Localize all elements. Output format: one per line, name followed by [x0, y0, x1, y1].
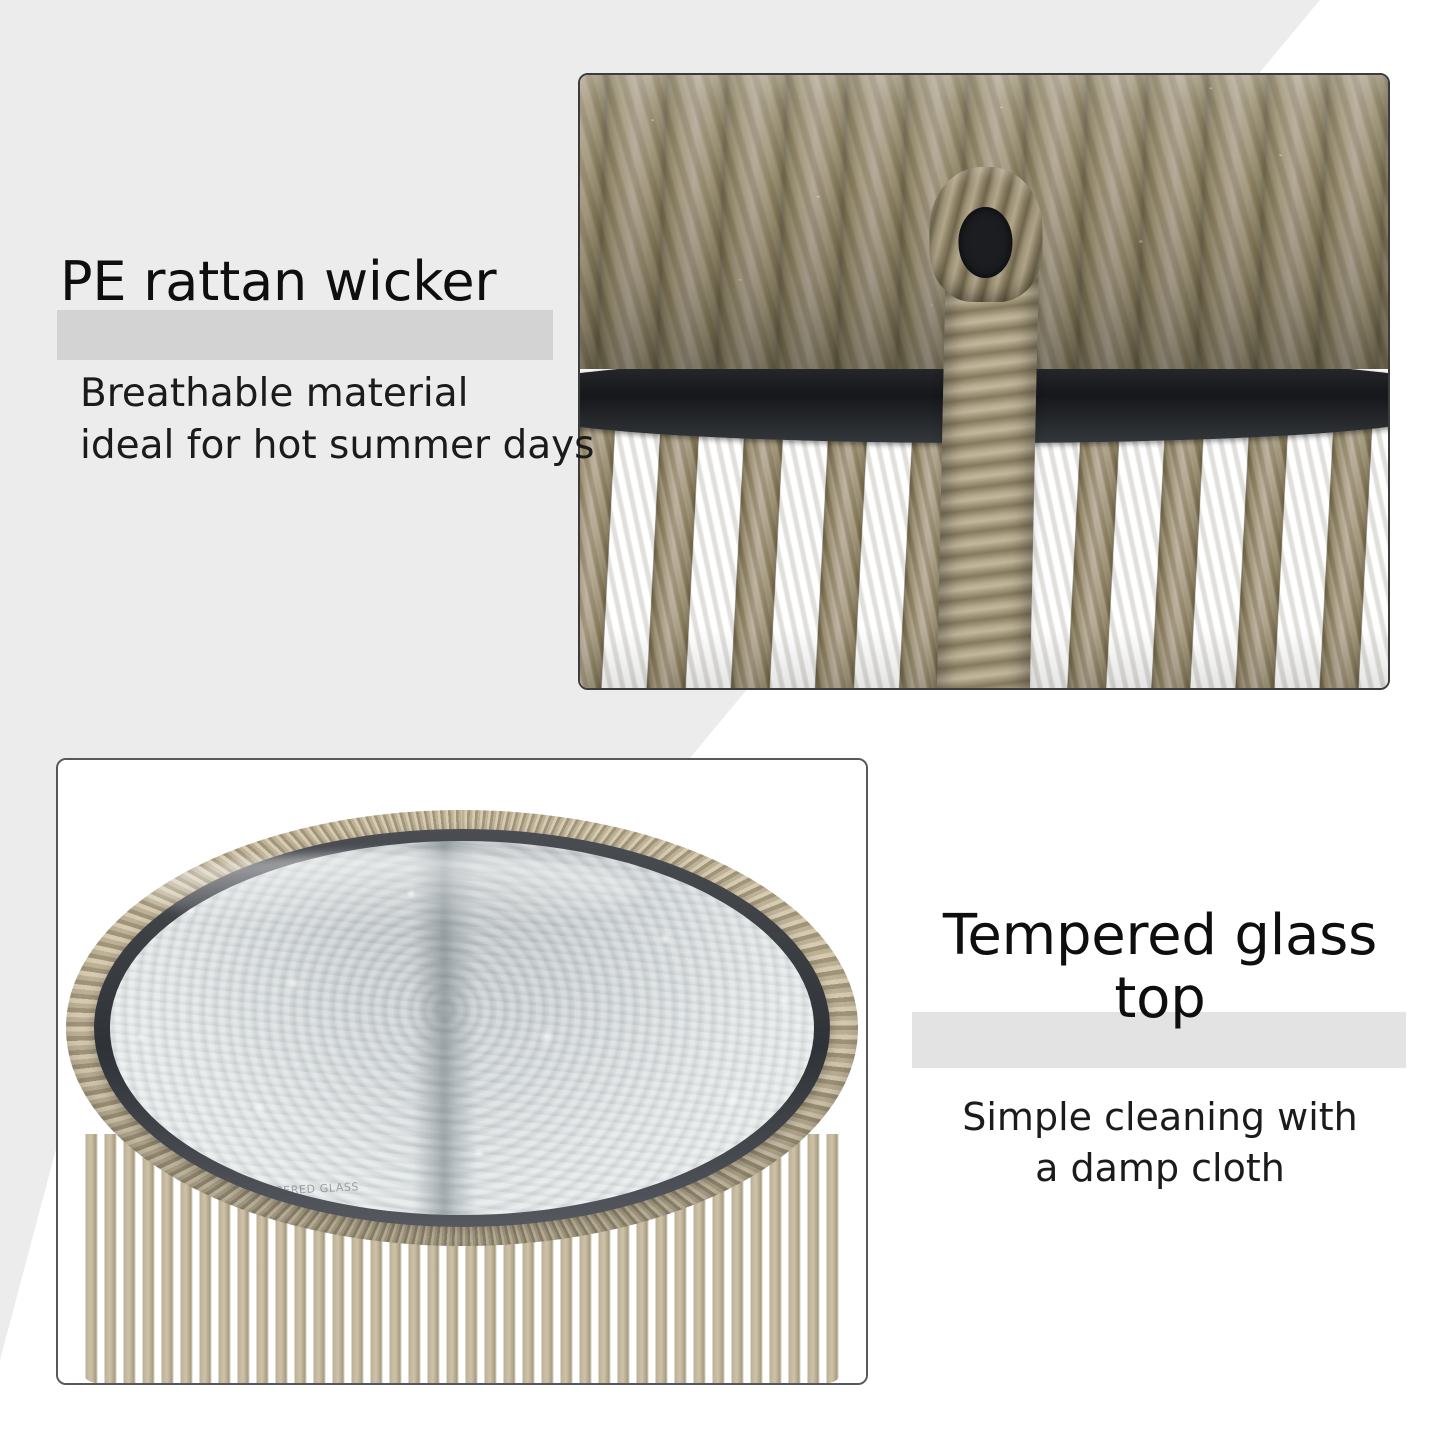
feature-subtext-glass-line-1: Simple cleaning with	[890, 1092, 1430, 1142]
glass-gloss-highlight	[139, 853, 640, 928]
rattan-wicker-photo	[578, 73, 1390, 690]
glass-photo-canvas: TEMPERED GLASS	[58, 760, 866, 1383]
feature-headline-glass-line-1: Tempered glass	[890, 905, 1430, 968]
feature-subtext-rattan: Breathable material ideal for hot summer…	[30, 368, 582, 471]
rattan-knot	[929, 167, 1042, 302]
feature-block-glass: Tempered glass top Simple cleaning with …	[890, 905, 1430, 1193]
feature-subtext-rattan-line-1: Breathable material	[80, 368, 582, 419]
rattan-photo-canvas	[580, 75, 1388, 688]
feature-headline-glass: Tempered glass top	[890, 905, 1430, 1030]
tempered-glass-etching: TEMPERED GLASS	[250, 1180, 359, 1199]
feature-subtext-glass-line-2: a damp cloth	[890, 1143, 1430, 1193]
feature-block-rattan: PE rattan wicker Breathable material ide…	[30, 252, 582, 471]
feature-subtext-rattan-line-2: ideal for hot summer days	[80, 420, 582, 471]
feature-headline-rattan: PE rattan wicker	[30, 252, 582, 312]
rattan-wrapped-post	[937, 233, 1040, 690]
product-feature-panel: TEMPERED GLASS PE rattan wicker Breathab…	[0, 0, 1445, 1445]
feature-subtext-glass: Simple cleaning with a damp cloth	[890, 1092, 1430, 1192]
glass-tabletop-photo: TEMPERED GLASS	[56, 758, 868, 1385]
feature-headline-glass-line-2: top	[890, 968, 1430, 1031]
